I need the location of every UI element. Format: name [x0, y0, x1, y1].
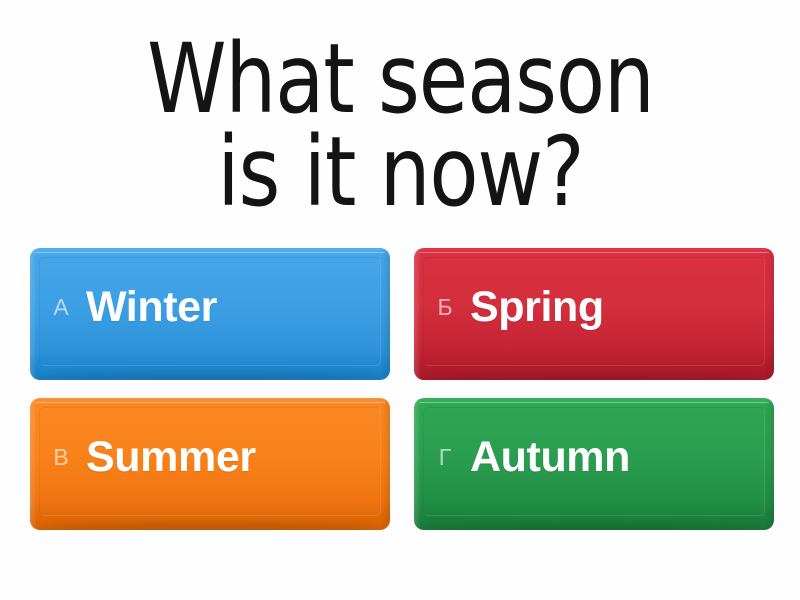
quiz-screen: What season is it now? А Winter Б Spring…	[0, 0, 800, 600]
answer-option-d[interactable]: Г Autumn	[414, 398, 774, 530]
answer-content-a: А Winter	[30, 285, 390, 342]
answer-label-c: Summer	[86, 435, 390, 480]
answers-grid: А Winter Б Spring В Summer Г	[30, 248, 774, 530]
answer-option-a[interactable]: А Winter	[30, 248, 390, 380]
answer-content-d: Г Autumn	[414, 435, 774, 492]
question-area: What season is it now?	[20, 0, 780, 248]
answer-option-b[interactable]: Б Spring	[414, 248, 774, 380]
answer-option-c[interactable]: В Summer	[30, 398, 390, 530]
answer-content-c: В Summer	[30, 435, 390, 492]
answer-label-a: Winter	[86, 285, 390, 330]
answer-key-a: А	[30, 296, 86, 319]
answer-key-c: В	[30, 446, 86, 469]
answer-key-d: Г	[414, 446, 470, 469]
answer-content-b: Б Spring	[414, 285, 774, 342]
answer-label-b: Spring	[470, 285, 774, 330]
answer-label-d: Autumn	[470, 435, 774, 480]
answer-key-b: Б	[414, 296, 470, 319]
question-text: What season is it now?	[147, 33, 654, 219]
